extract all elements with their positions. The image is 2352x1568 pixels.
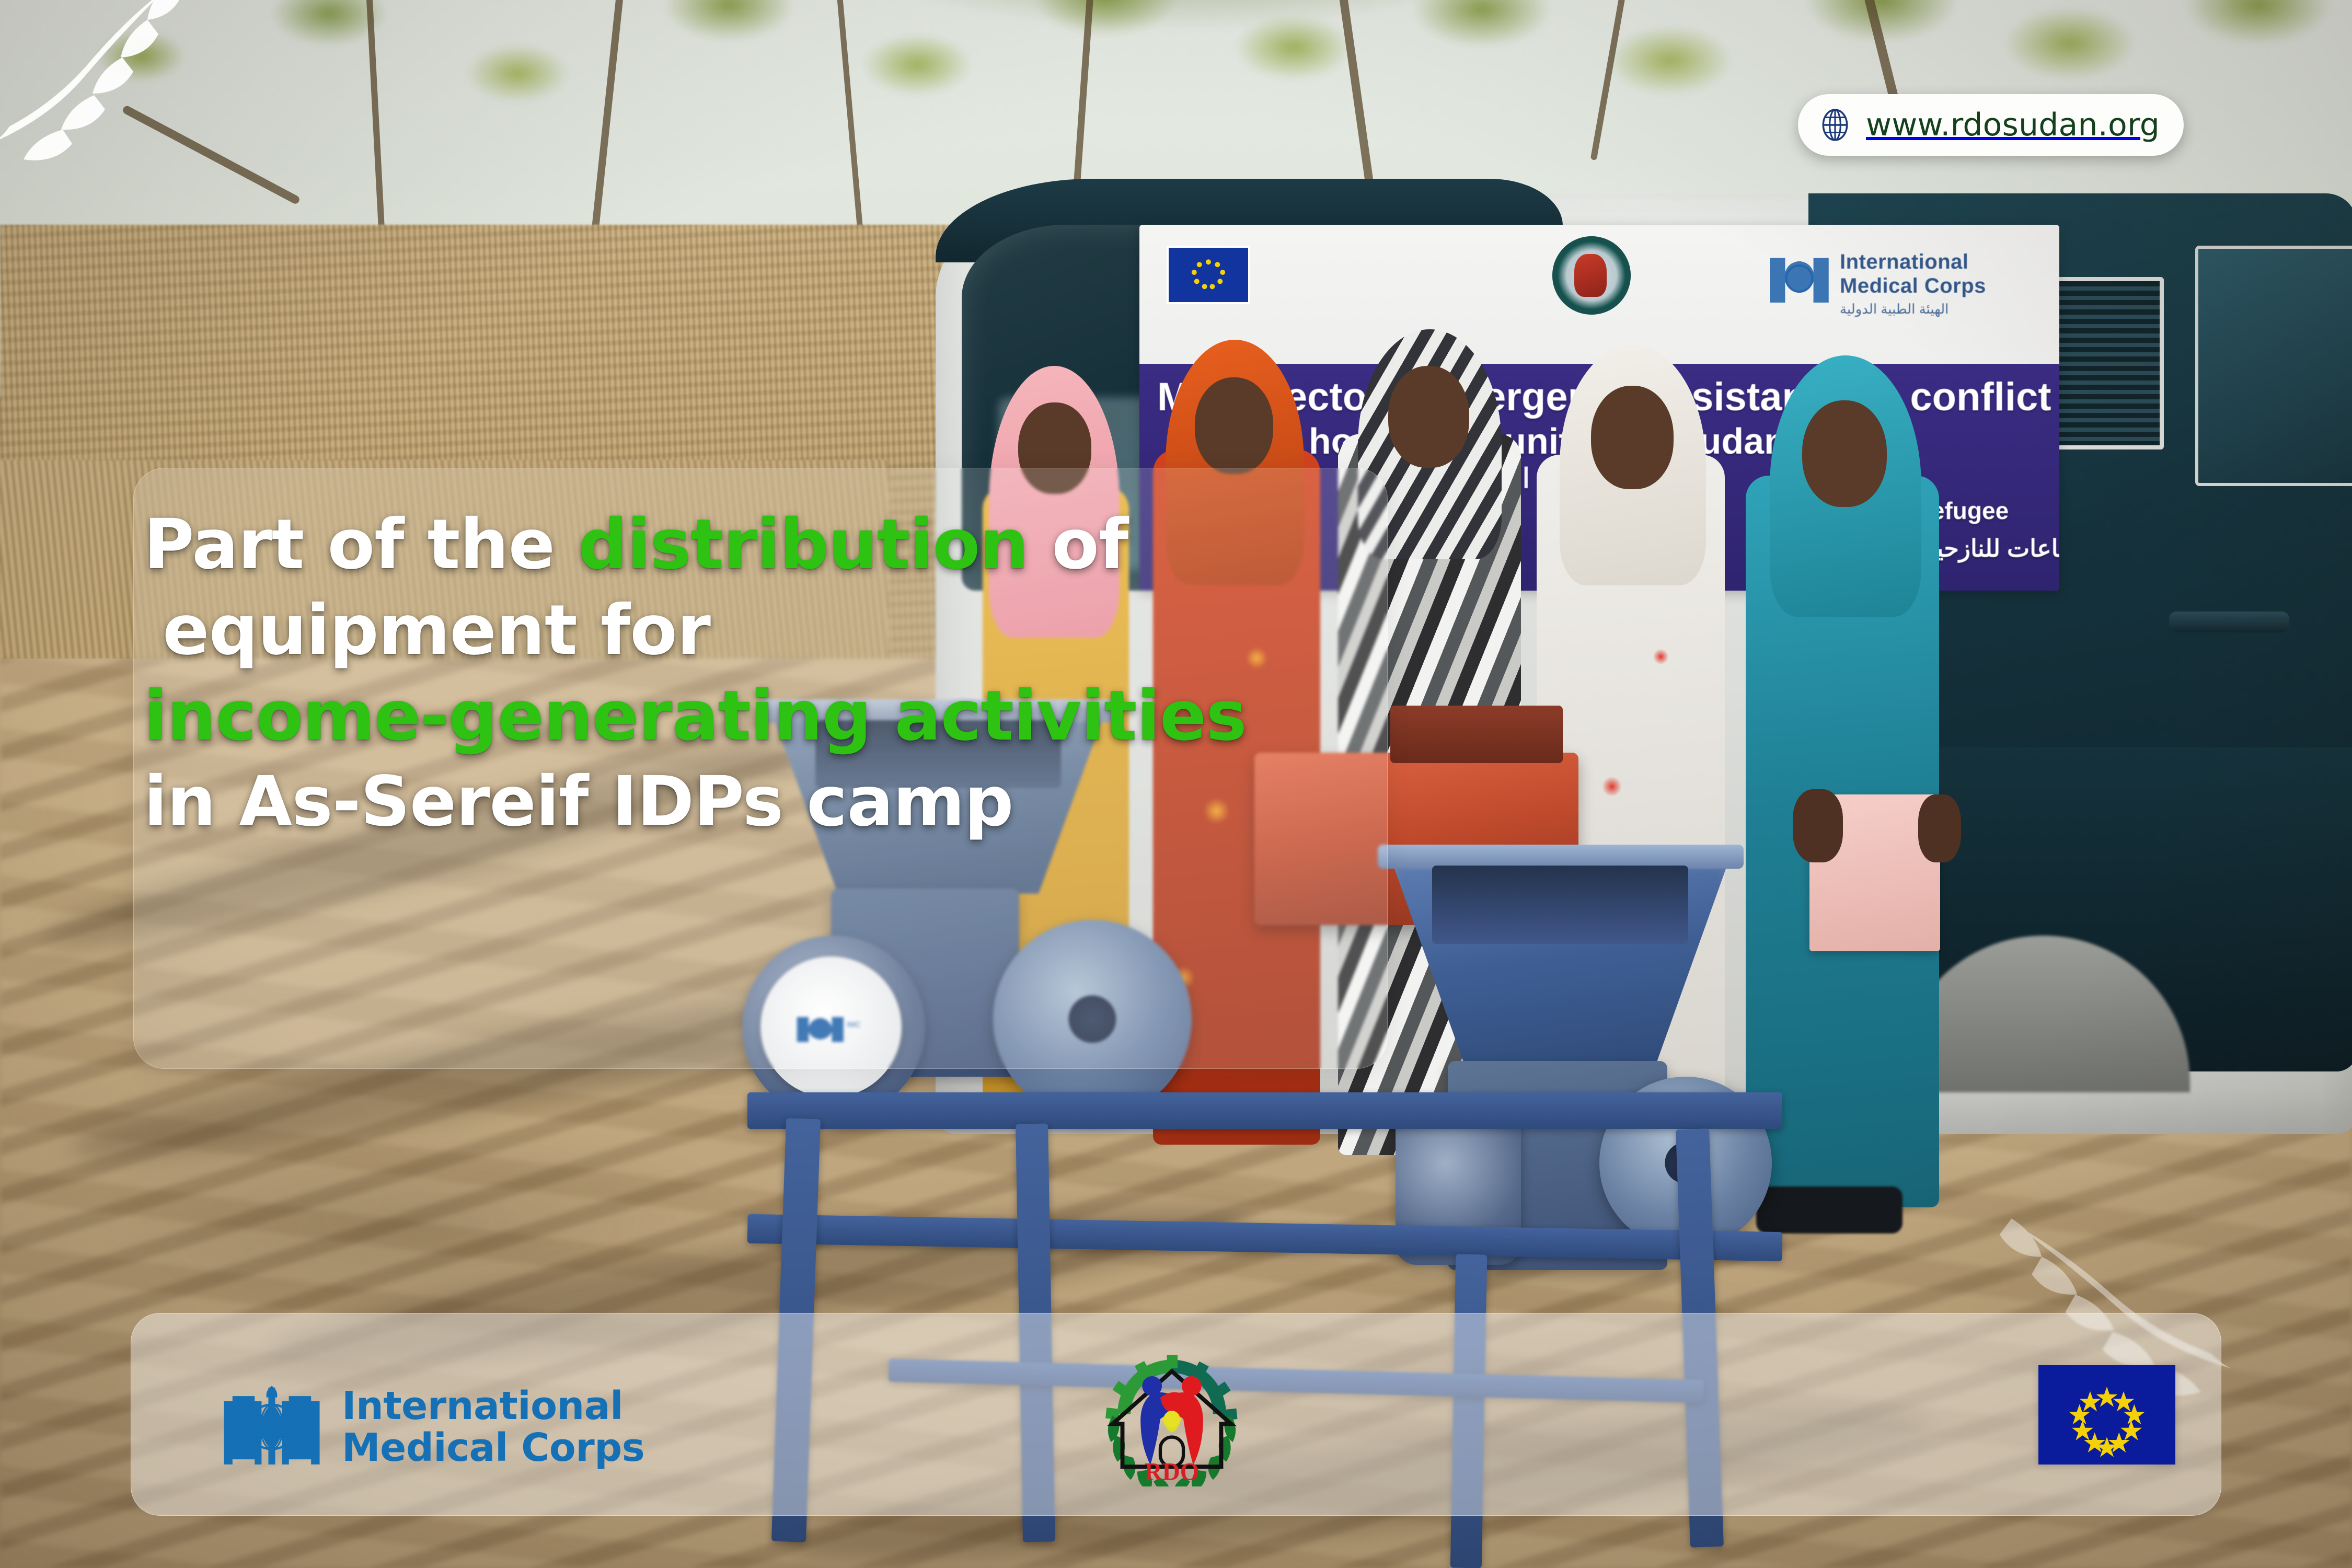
van-door-handle xyxy=(2169,612,2289,632)
website-url-text: www.rdosudan.org xyxy=(1866,107,2160,143)
face xyxy=(1591,386,1674,489)
headline-line-3-highlight: income-generating activities xyxy=(144,673,1409,759)
face xyxy=(1195,377,1273,474)
face xyxy=(1388,366,1469,468)
imc-logo-text-line-2: Medical Corps xyxy=(342,1427,644,1469)
engine-top-cover xyxy=(1390,706,1563,763)
imc-logo-icon xyxy=(1767,247,1832,309)
headline-line-1: Part of the distribution of xyxy=(144,502,1409,587)
eu-flag-icon xyxy=(2038,1365,2175,1465)
eu-flag-icon xyxy=(1167,246,1250,304)
face xyxy=(1802,400,1887,507)
imc-logo-text: International Medical Corps xyxy=(342,1385,644,1469)
banner-imc-logo: International Medical Corps الهيئة الطبي… xyxy=(1767,243,2012,321)
partner-seal-icon xyxy=(1552,236,1631,315)
rdo-logo-icon: RDO xyxy=(1088,1355,1255,1486)
banner-imc-text: International Medical Corps xyxy=(1840,250,1986,298)
footer-imc-logo: International Medical Corps xyxy=(220,1382,644,1471)
shoe xyxy=(1756,1186,1903,1233)
headline-highlight-distribution: distribution xyxy=(578,504,1028,585)
imc-logo-text-line-1: International xyxy=(342,1385,644,1427)
globe-icon xyxy=(1818,108,1852,142)
svg-text:RDO: RDO xyxy=(1145,1458,1200,1485)
mill-hopper-inner xyxy=(1432,866,1688,944)
headline-text: Part of the distribution of equipment fo… xyxy=(144,502,1409,845)
headline-line-2: equipment for xyxy=(144,587,1409,673)
website-link-pill[interactable]: www.rdosudan.org xyxy=(1798,94,2184,156)
stand-top-rail xyxy=(747,1092,1782,1129)
banner-imc-arabic: الهيئة الطبية الدولية xyxy=(1840,301,1949,317)
imc-logo-icon xyxy=(220,1382,324,1471)
headline-line-1-suffix: of xyxy=(1028,504,1128,585)
hand xyxy=(1793,789,1843,862)
van-window xyxy=(2195,246,2352,486)
poster-canvas: International Medical Corps الهيئة الطبي… xyxy=(0,0,2352,1568)
hand xyxy=(1918,794,1961,862)
headline-line-4: in As-Sereif IDPs camp xyxy=(144,759,1409,845)
headline-line-1-prefix: Part of the xyxy=(144,504,578,585)
